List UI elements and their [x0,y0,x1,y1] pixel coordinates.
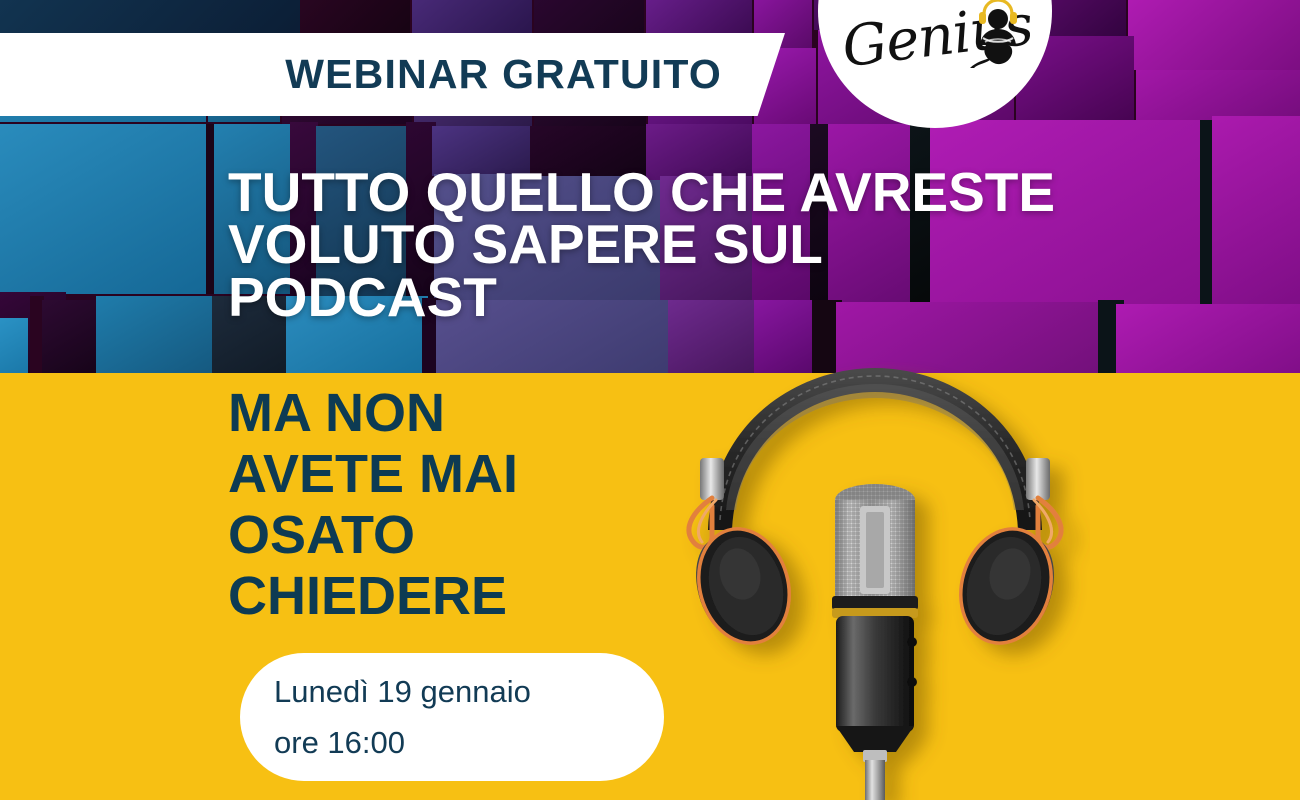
event-time: ore 16:00 [274,717,664,768]
webinar-banner: WEBINAR GRATUITO [0,33,785,116]
right-slider [1026,458,1050,500]
subhead-line-4: CHIEDERE [228,566,518,627]
webinar-poster: WEBINAR GRATUITO Genius [0,0,1300,800]
headline-line-2: VOLUTO SAPERE SUL [228,218,1088,270]
bg-block [1128,0,1300,70]
left-slider [700,458,724,500]
subhead-line-1: MA NON [228,383,518,444]
genius-logo-badge[interactable]: Genius [818,0,1052,128]
headline-line-1: TUTTO QUELLO CHE AVRESTE [228,166,1088,218]
subhead-line-2: AVETE MAI [228,444,518,505]
left-earcup [685,518,802,654]
mic-stand [865,760,885,800]
headphones-microphone-illustration [660,360,1090,800]
banner-label: WEBINAR GRATUITO [285,51,785,98]
subhead-line-3: OSATO [228,505,518,566]
right-earcup [948,518,1065,654]
page-title: TUTTO QUELLO CHE AVRESTE VOLUTO SAPERE S… [228,166,1088,323]
condenser-microphone [832,484,918,800]
event-date: Lunedì 19 gennaio [274,666,664,717]
page-subtitle: MA NON AVETE MAI OSATO CHIEDERE [228,383,518,627]
bg-block [1116,304,1300,373]
bg-block [96,296,216,373]
headline-line-3: PODCAST [228,271,1088,323]
genie-headphones-icon [970,0,1026,68]
mic-body [836,616,914,732]
bg-block [42,300,100,373]
bg-block [0,318,28,373]
bg-block [1212,116,1300,312]
podcast-artwork [660,360,1090,800]
bg-block [0,124,208,294]
event-datetime-pill: Lunedì 19 gennaio ore 16:00 [240,653,664,781]
